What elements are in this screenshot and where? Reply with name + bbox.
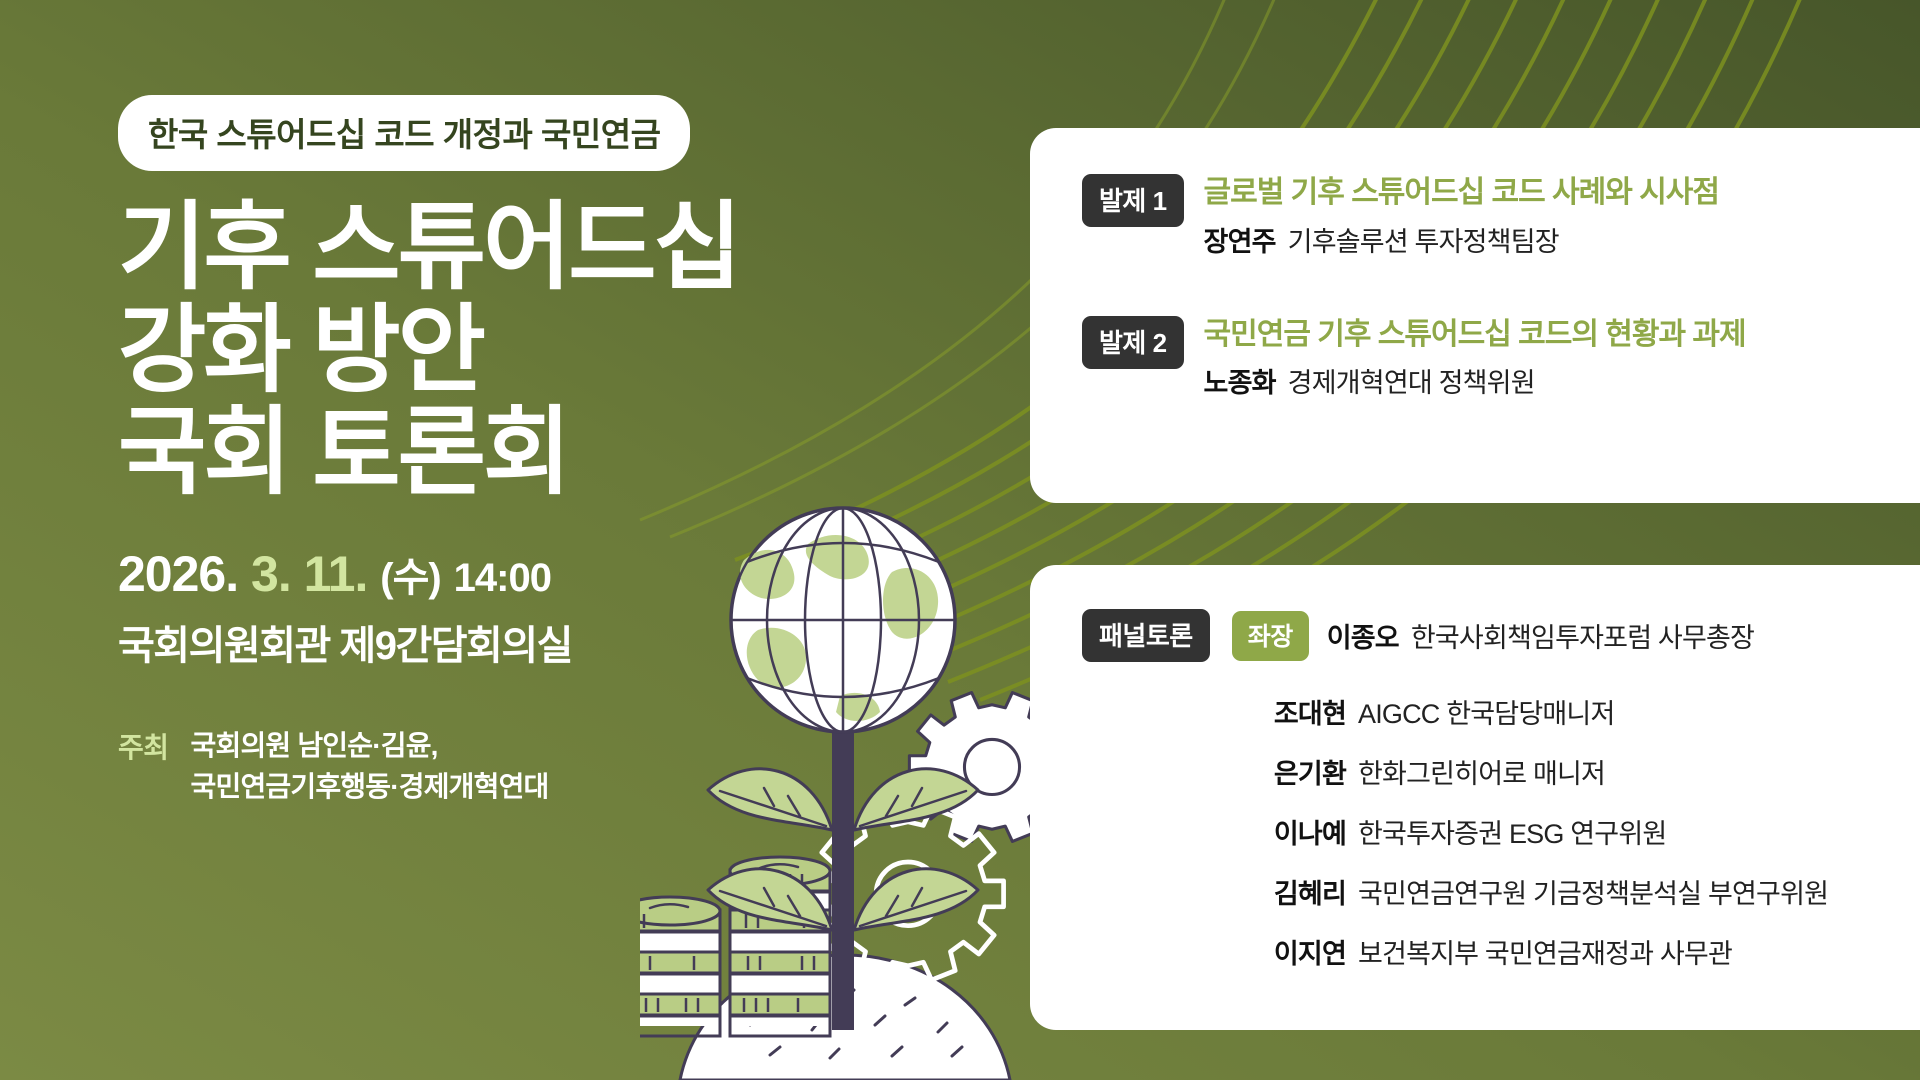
event-venue: 국회의원회관 제9간담회의실 <box>118 613 1000 671</box>
presentations-card: 발제 1 글로벌 기후 스튜어드십 코드 사례와 시사점 장연주기후솔루션 투자… <box>1030 128 1920 503</box>
page-title: 기후 스튜어드십 강화 방안 국회 토론회 <box>118 197 1000 505</box>
presentation-1-title: 글로벌 기후 스튜어드십 코드 사례와 시사점 <box>1204 174 1719 212</box>
panelist-name: 이지연 <box>1234 932 1346 971</box>
chair-badge: 좌장 <box>1232 611 1309 661</box>
panelist-affiliation: 한화그린히어로 매니저 <box>1358 752 1605 791</box>
host-line-2: 국민연금기후행동·경제개혁연대 <box>191 767 549 808</box>
list-item: 이나예 한국투자증권 ESG 연구위원 <box>1234 812 1920 851</box>
chair-name: 이종오 <box>1327 616 1399 655</box>
panelist-name: 은기환 <box>1234 752 1346 791</box>
panel-discussion-card: 패널토론 좌장 이종오한국사회책임투자포럼 사무총장 조대현 AIGCC 한국담… <box>1030 565 1920 1030</box>
panelist-affiliation: 국민연금연구원 기금정책분석실 부연구위원 <box>1358 872 1828 911</box>
presentation-item: 발제 1 글로벌 기후 스튜어드십 코드 사례와 시사점 장연주기후솔루션 투자… <box>1082 174 1920 258</box>
presentation-item: 발제 2 국민연금 기후 스튜어드십 코드의 현황과 과제 노종화경제개혁연대 … <box>1082 316 1920 400</box>
title-line-2: 강화 방안 <box>118 300 1000 403</box>
poster-canvas: 한국 스튜어드십 코드 개정과 국민연금 기후 스튜어드십 강화 방안 국회 토… <box>0 0 1920 1080</box>
panel-chair-row: 패널토론 좌장 이종오한국사회책임투자포럼 사무총장 <box>1082 609 1920 662</box>
date-weekday: (수) <box>380 556 440 600</box>
presentation-1-speaker: 장연주기후솔루션 투자정책팀장 <box>1204 226 1719 258</box>
host-organizations: 국회의원 남인순·김윤, 국민연금기후행동·경제개혁연대 <box>191 726 549 807</box>
presentation-1-speaker-name: 장연주 <box>1204 227 1276 257</box>
host-line-1: 국회의원 남인순·김윤, <box>191 726 549 767</box>
panelist-list: 조대현 AIGCC 한국담당매니저 은기환 한화그린히어로 매니저 이나예 한국… <box>1234 692 1920 971</box>
list-item: 이지연 보건복지부 국민연금재정과 사무관 <box>1234 932 1920 971</box>
host-label: 주최 <box>118 726 169 766</box>
date-day-highlight: 3. 11. <box>251 546 367 602</box>
date-year: 2026. <box>118 546 238 602</box>
presentation-2-speaker-name: 노종화 <box>1204 368 1276 398</box>
title-line-1: 기후 스튜어드십 <box>118 197 1000 300</box>
panelist-affiliation: 보건복지부 국민연금재정과 사무관 <box>1358 932 1732 971</box>
panelist-affiliation: AIGCC 한국담당매니저 <box>1358 692 1615 731</box>
presentation-2-speaker-affiliation: 경제개혁연대 정책위원 <box>1288 368 1535 398</box>
host-block: 주최 국회의원 남인순·김윤, 국민연금기후행동·경제개혁연대 <box>118 726 1000 807</box>
date-time: 14:00 <box>454 556 551 600</box>
title-line-3: 국회 토론회 <box>118 402 1000 505</box>
presentation-2-title: 국민연금 기후 스튜어드십 코드의 현황과 과제 <box>1204 316 1746 354</box>
list-item: 은기환 한화그린히어로 매니저 <box>1234 752 1920 791</box>
presentation-1-badge: 발제 1 <box>1082 174 1184 227</box>
subtitle-pill: 한국 스튜어드십 코드 개정과 국민연금 <box>118 95 690 171</box>
panel-discussion-badge: 패널토론 <box>1082 609 1210 662</box>
panelist-name: 김혜리 <box>1234 872 1346 911</box>
list-item: 김혜리 국민연금연구원 기금정책분석실 부연구위원 <box>1234 872 1920 911</box>
hero-column: 한국 스튜어드십 코드 개정과 국민연금 기후 스튜어드십 강화 방안 국회 토… <box>0 0 1000 1080</box>
panelist-name: 조대현 <box>1234 692 1346 731</box>
presentation-1-speaker-affiliation: 기후솔루션 투자정책팀장 <box>1288 227 1559 257</box>
panelist-name: 이나예 <box>1234 812 1346 851</box>
event-datetime: 2026. 3. 11. (수) 14:00 <box>118 545 1000 603</box>
presentation-2-speaker: 노종화경제개혁연대 정책위원 <box>1204 367 1746 399</box>
list-item: 조대현 AIGCC 한국담당매니저 <box>1234 692 1920 731</box>
panelist-affiliation: 한국투자증권 ESG 연구위원 <box>1358 812 1666 851</box>
chair-affiliation: 한국사회책임투자포럼 사무총장 <box>1411 616 1754 655</box>
presentation-2-badge: 발제 2 <box>1082 316 1184 369</box>
